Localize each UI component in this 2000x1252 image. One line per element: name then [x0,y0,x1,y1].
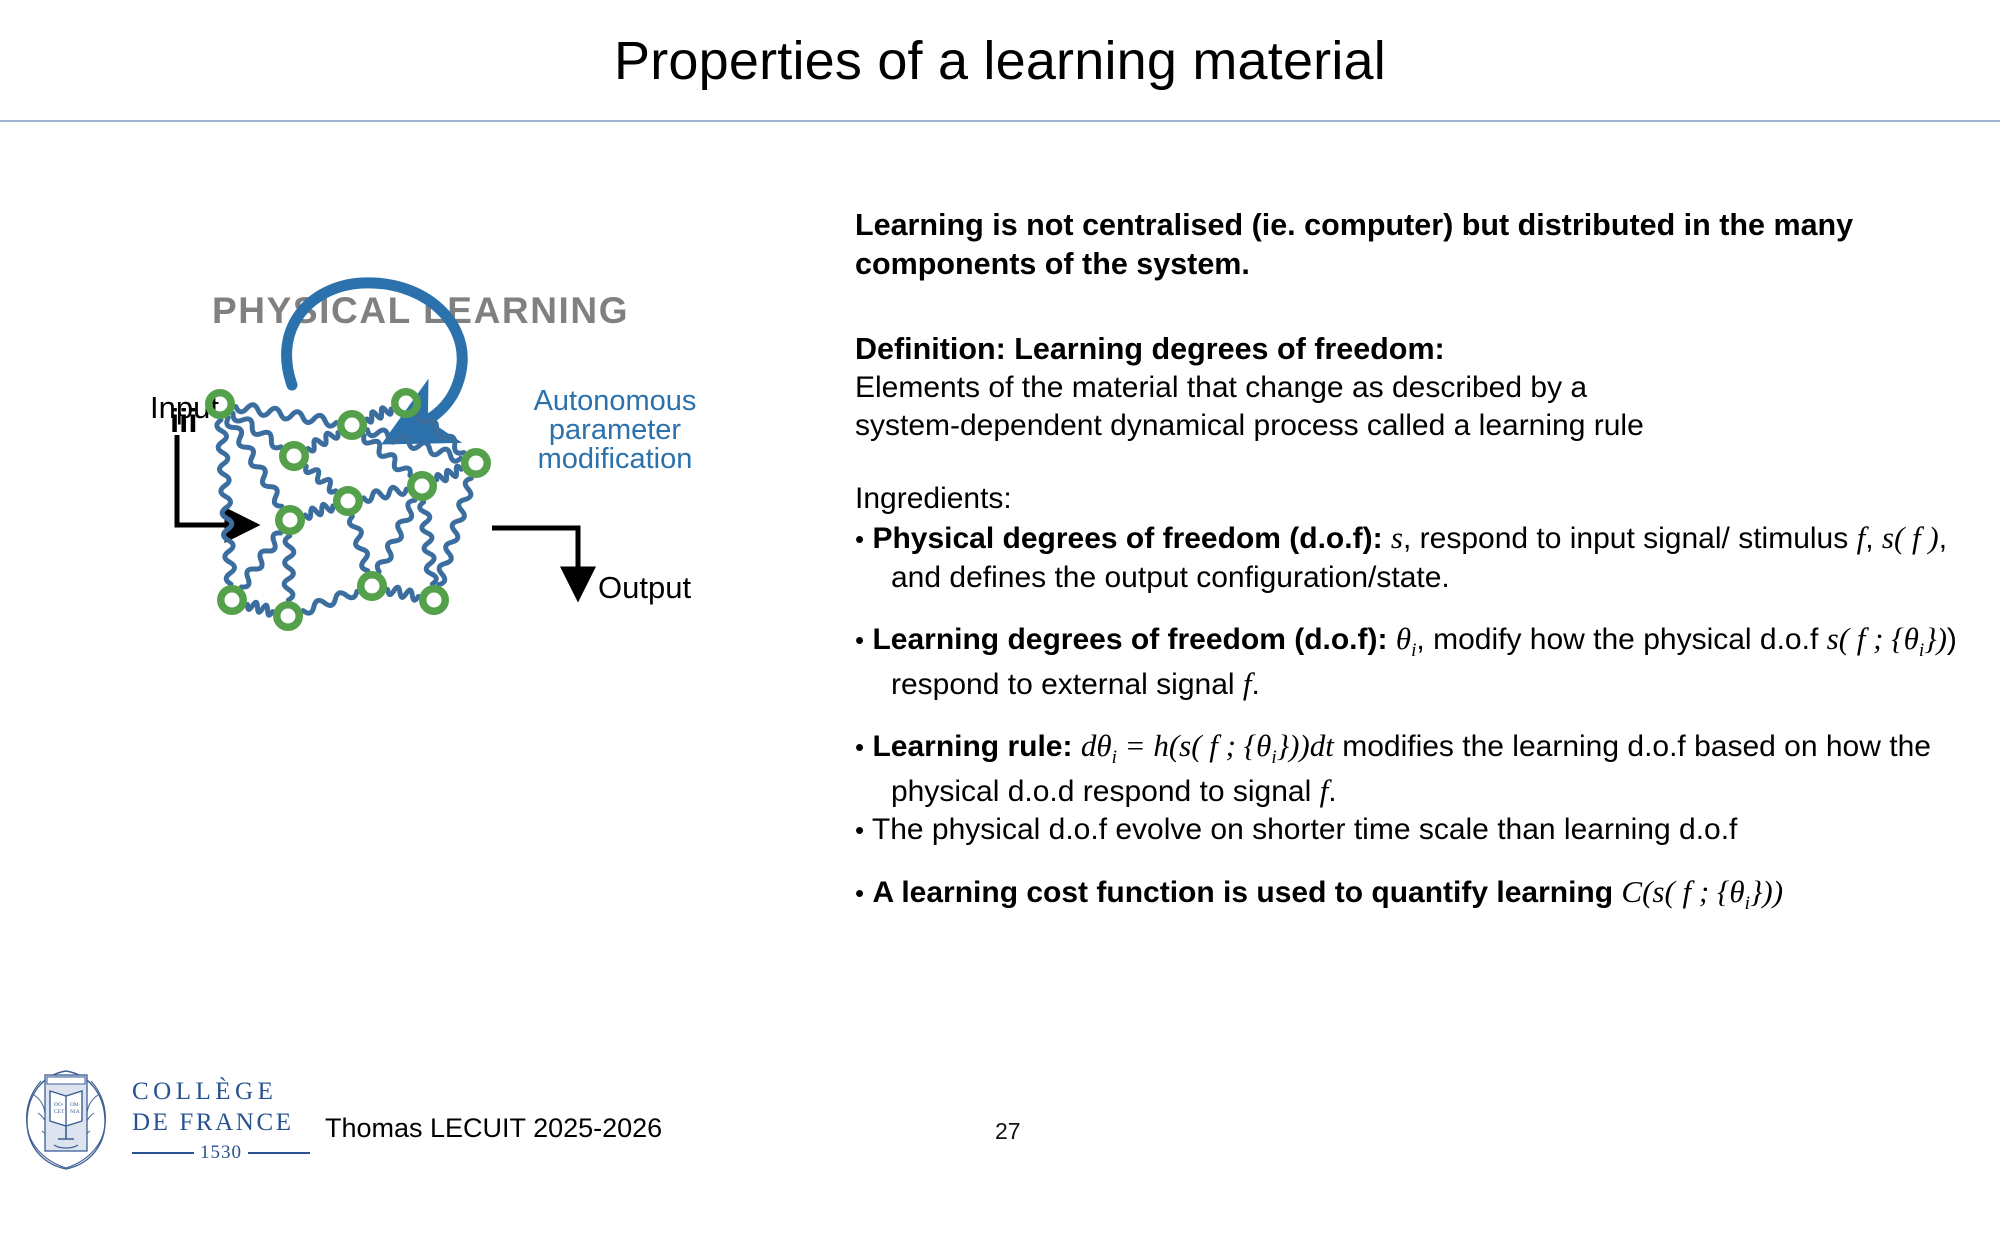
network-node-n7 [411,475,434,498]
definition-heading: Definition: Learning degrees of freedom: [855,330,1965,369]
header-divider [0,120,2000,122]
spring-n6-n7 [364,487,407,501]
network-node-n5 [465,452,488,475]
bullet-glyph: • [855,625,864,655]
math-f-2: f [1243,666,1252,701]
logo-rule-left [132,1152,194,1154]
spring-network-diagram [0,150,840,1050]
spring-n2-n3 [367,408,391,422]
footer-credit: Thomas LECUIT 2025-2026 [325,1113,662,1144]
math-theta-i: θi [1396,621,1417,656]
math-learning-rule-equation: dθi = h(s( f ; {θi}))dt [1081,728,1334,763]
spring-n3-n5 [418,413,464,453]
spring-n5-n7 [437,466,462,481]
bullet-learning-dof-label: Learning degrees of freedom (d.o.f): [872,623,1387,656]
spacer [855,597,1965,619]
definition-body-line-2: system-dependent dynamical process calle… [855,407,1965,445]
bullet-physical-dof-text-1: , respond to input signal/ stimulus [1403,522,1848,555]
college-de-france-wordmark: COLLÈGE DE FRANCE 1530 [132,1077,310,1164]
svg-text:NIA: NIA [70,1109,80,1115]
spring-n8-n10 [284,536,294,600]
spring-n7-n11 [377,500,415,571]
content-panel: Learning is not centralised (ie. compute… [855,206,1965,917]
spring-n11-n12 [388,587,419,600]
page-number: 27 [995,1118,1021,1145]
bullet-cost-function: • A learning cost function is used to qu… [855,872,1965,917]
logo-line-2: DE FRANCE [132,1108,310,1139]
math-cost-function: C(s( f ; {θi})) [1621,874,1783,909]
bullet-learning-dof: • Learning degrees of freedom (d.o.f): θ… [855,619,1965,704]
spacer [855,850,1965,872]
bullet-cost-function-label: A learning cost function is used to quan… [872,876,1613,909]
math-f-3: f [1320,773,1329,808]
spring-n2-n7 [364,436,411,476]
network-node-n6 [337,490,360,513]
math-f: f [1857,520,1866,555]
svg-text:CET: CET [54,1109,65,1115]
spring-n7-n12 [420,502,437,584]
ingredients-heading: Ingredients: [855,480,1965,518]
spring-n4-n2 [308,433,338,451]
spring-n1-n9 [217,420,235,584]
spring-n8-n9 [241,533,280,587]
network-node-n12 [423,589,446,612]
logo-year-text: 1530 [200,1142,242,1164]
network-node-n3 [395,392,418,415]
svg-text:DO·: DO· [54,1102,64,1108]
network-node-n9 [221,589,244,612]
bullet-glyph: • [855,732,864,762]
spring-n10-n11 [303,591,357,613]
logo-founding-year: 1530 [132,1142,310,1164]
logo-rule-right [248,1152,310,1154]
spring-n4-n6 [306,466,336,492]
bullet-learning-rule-label: Learning rule: [872,730,1072,763]
network-node-n1 [209,393,232,416]
bullet-learning-rule-text-2: . [1328,775,1336,808]
spring-n9-n10 [247,602,272,615]
network-node-n10 [277,605,300,628]
intro-paragraph: Learning is not centralised (ie. compute… [855,206,1965,284]
math-s-f-theta: s( f ; {θi}) [1827,621,1947,656]
bullet-learning-dof-text-3: . [1252,668,1260,701]
autonomous-loop-arrow [287,283,463,422]
bullet-glyph: • [855,524,864,554]
output-arrow [492,528,578,574]
bullet-glyph: • [855,815,864,845]
network-node-n11 [361,575,384,598]
diagram-panel: PHYSICAL LEARNING iii Autonomous paramet… [0,150,840,1050]
college-de-france-logo: DO·OM· CETNIA COLLÈGE DE FRANCE 1530 [14,1065,314,1175]
math-s-of-f: s( f ) [1882,520,1939,555]
bullet-learning-dof-text-1: , modify how the physical d.o.f [1416,623,1818,656]
college-crest-icon: DO·OM· CETNIA [14,1065,118,1177]
network-node-n2 [341,414,364,437]
bullet-learning-rule: • Learning rule: dθi = h(s( f ; {θi}))dt… [855,726,1965,811]
math-s: s [1391,520,1403,555]
bullet-glyph: • [855,878,864,908]
page-title: Properties of a learning material [0,30,2000,92]
bullet-physical-dof: • Physical degrees of freedom (d.o.f): s… [855,518,1965,597]
bullet-physical-dof-text-2: , [1865,522,1873,555]
network-node-n4 [283,445,306,468]
spacer [855,284,1965,330]
spacer [855,704,1965,726]
spacer [855,446,1965,480]
logo-line-1: COLLÈGE [132,1077,310,1108]
bullet-physical-dof-label: Physical degrees of freedom (d.o.f): [872,522,1382,555]
bullet-timescale-label: The physical d.o.f evolve on shorter tim… [872,813,1737,846]
definition-body-line-1: Elements of the material that change as … [855,369,1965,407]
spring-n6-n11 [349,516,367,570]
svg-text:OM·: OM· [70,1102,81,1108]
spring-n5-n12 [439,478,472,584]
bullet-timescale: • The physical d.o.f evolve on shorter t… [855,811,1965,849]
spring-n8-n6 [305,504,333,518]
network-node-n8 [279,509,302,532]
